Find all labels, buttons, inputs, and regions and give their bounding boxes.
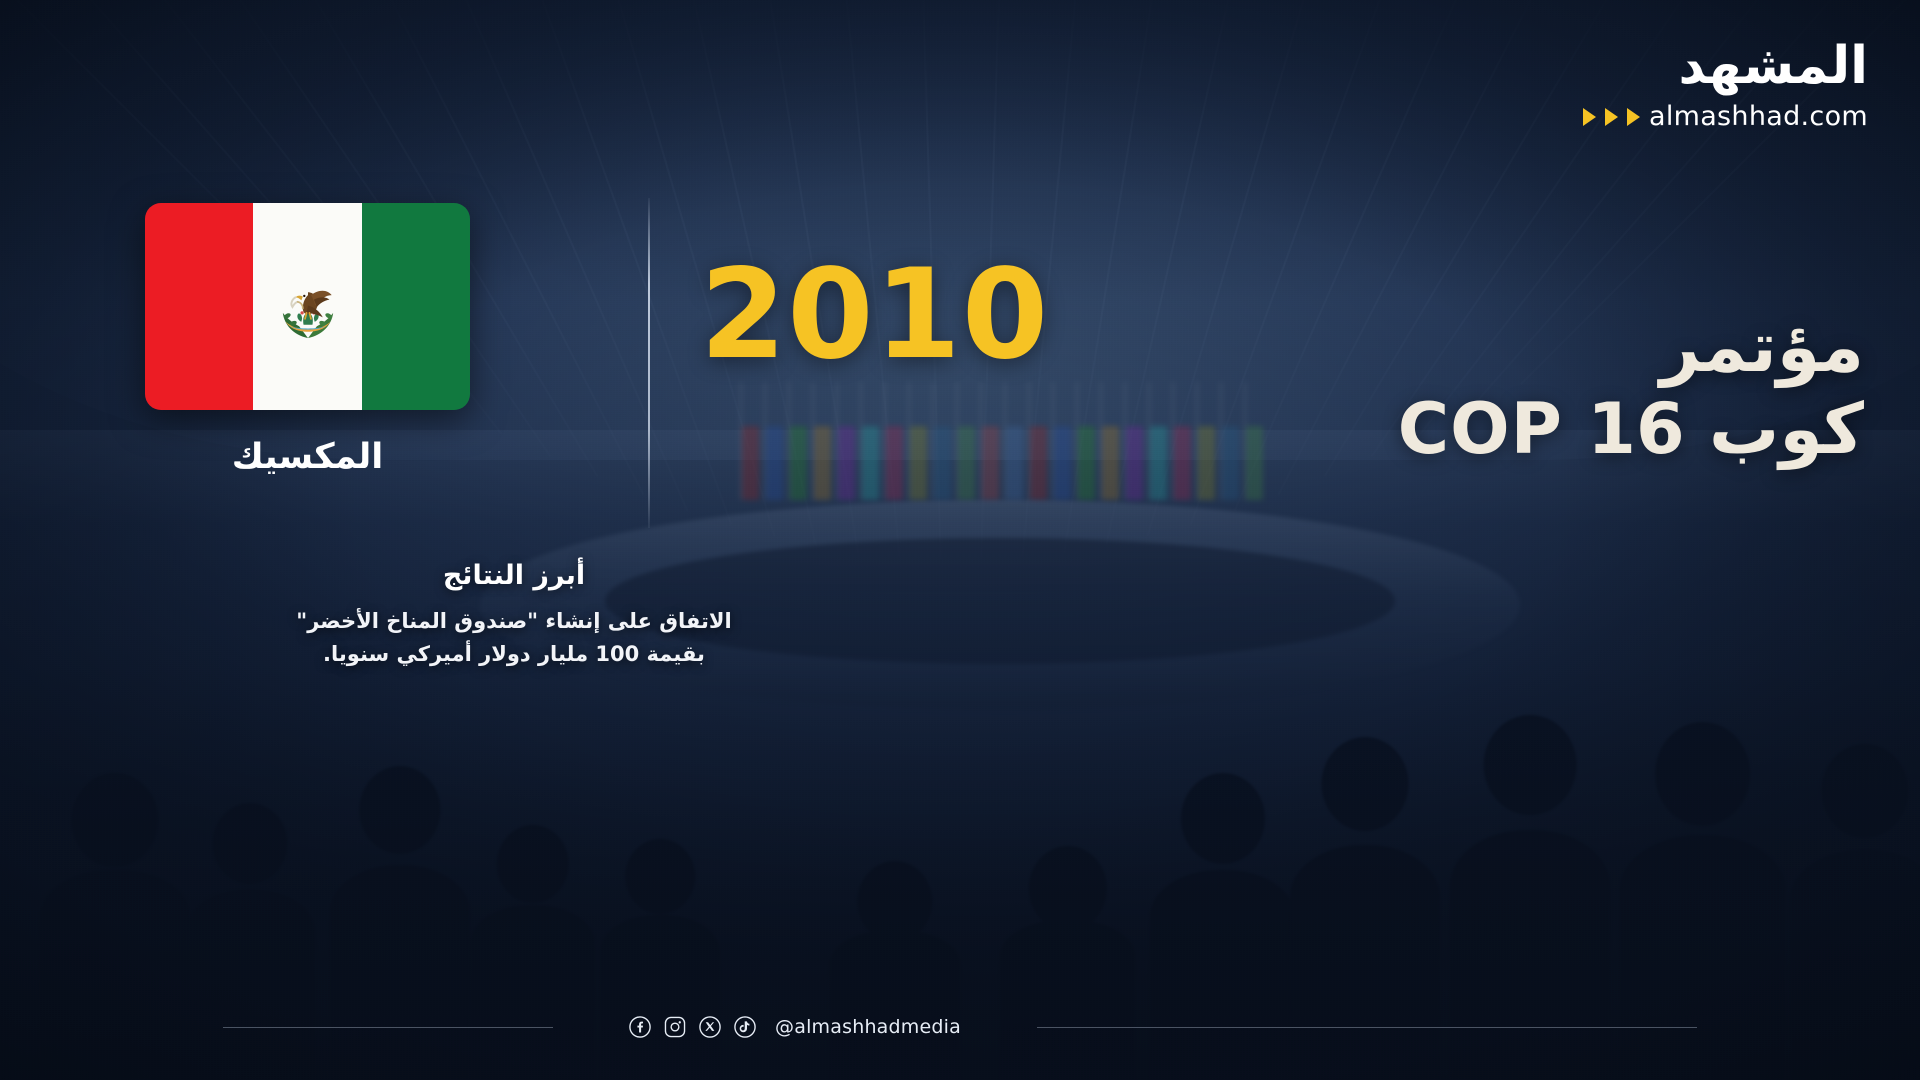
footer-bar: @almashhadmedia — [0, 1010, 1920, 1044]
delegate-silhouette — [330, 865, 470, 1080]
play-triangle-icon — [1583, 108, 1596, 126]
mexico-flag — [145, 203, 470, 410]
year-value: 2010 — [700, 253, 1049, 377]
delegate-silhouette — [470, 905, 595, 1080]
x-twitter-icon[interactable] — [699, 1016, 721, 1038]
instagram-icon[interactable] — [664, 1016, 686, 1038]
brand-logo-subline: almashhad.com — [1583, 101, 1868, 132]
conference-title: مؤتمر كوب 16 COP — [1104, 310, 1864, 468]
delegate-silhouette — [40, 870, 190, 1080]
brand-domain-label: almashhad.com — [1649, 101, 1868, 132]
delegate-silhouette — [600, 915, 720, 1080]
brand-logo-wordmark: المشهد — [1583, 40, 1868, 92]
facebook-icon[interactable] — [629, 1016, 651, 1038]
social-handle: @almashhadmedia — [775, 1016, 961, 1038]
delegate-silhouette — [1150, 870, 1295, 1080]
delegate-silhouette — [830, 930, 960, 1080]
conference-title-line1: مؤتمر — [1104, 310, 1864, 386]
key-results-block: أبرز النتائج الاتفاق على إنشاء "صندوق ال… — [254, 560, 774, 670]
brand-logo[interactable]: المشهد almashhad.com — [1583, 40, 1868, 132]
delegate-silhouette — [1790, 850, 1920, 1080]
key-results-body: الاتفاق على إنشاء "صندوق المناخ الأخضر" … — [254, 605, 774, 670]
flag-band-white — [253, 203, 361, 410]
country-label: المكسيك — [145, 437, 470, 477]
footer-social-group[interactable]: @almashhadmedia — [609, 1016, 981, 1038]
delegate-silhouette — [185, 890, 315, 1080]
key-results-body-line1: الاتفاق على إنشاء "صندوق المناخ الأخضر" — [254, 605, 774, 638]
flag-band-green — [362, 203, 470, 410]
infographic-canvas: المشهد almashhad.com — [0, 0, 1920, 1080]
key-results-body-line2: بقيمة 100 مليار دولار أميركي سنويا. — [254, 638, 774, 671]
delegate-silhouette — [1290, 845, 1440, 1080]
footer-rule-right — [223, 1027, 553, 1028]
vertical-divider — [648, 198, 650, 528]
delegate-silhouette — [1000, 920, 1135, 1080]
footer-rule-left — [1037, 1027, 1697, 1028]
conference-title-line2: كوب 16 COP — [1104, 390, 1864, 468]
mexican-coat-of-arms-eagle-icon — [271, 270, 345, 344]
play-triangle-icon — [1605, 108, 1618, 126]
key-results-heading: أبرز النتائج — [254, 560, 774, 591]
flag-band-red — [145, 203, 253, 410]
tiktok-icon[interactable] — [734, 1016, 756, 1038]
play-triangle-icon — [1627, 108, 1640, 126]
